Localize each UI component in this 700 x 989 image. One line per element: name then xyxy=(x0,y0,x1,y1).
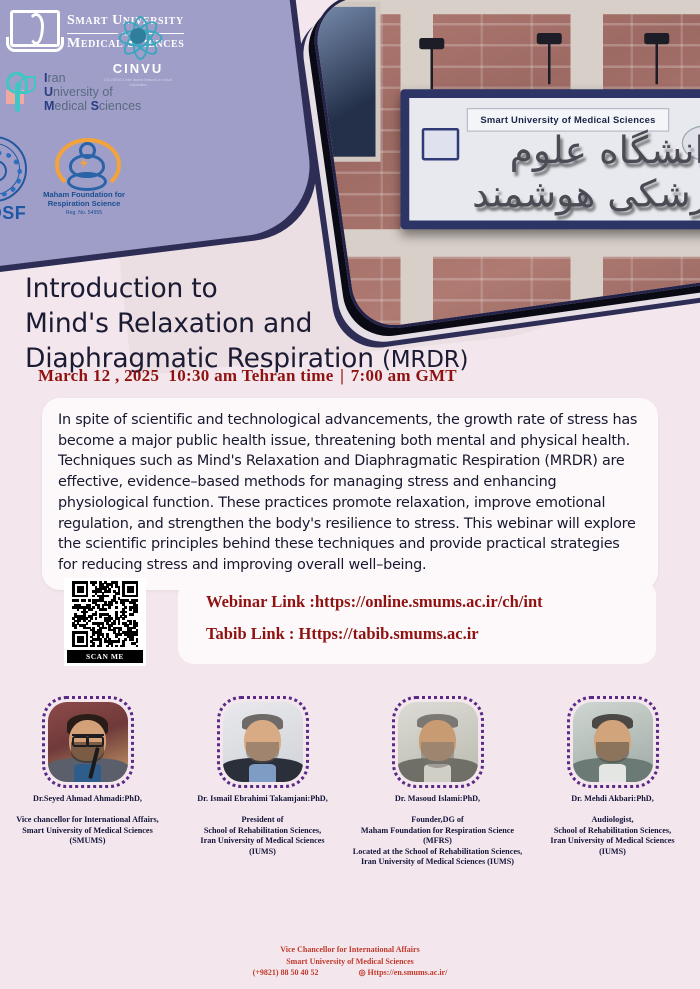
event-time-tehran: 10:30 am Tehran time xyxy=(168,366,333,385)
webinar-poster: Smart University of Medical Sciences دان… xyxy=(0,0,700,989)
sign-english-strip: Smart University of Medical Sciences xyxy=(467,108,670,132)
footer-phone: (+9821) 88 50 40 52 xyxy=(253,967,319,979)
tabib-link[interactable]: Tabib Link : Https://tabib.smums.ac.ir xyxy=(206,624,656,644)
footer-line-1: Vice Chancellor for International Affair… xyxy=(0,944,700,956)
speaker-card: Dr. Masoud Islami:PhD, Founder,DG ofMaha… xyxy=(350,696,525,868)
sign-lamp xyxy=(656,42,659,85)
speaker-role: President ofSchool of Rehabilitation Sci… xyxy=(175,815,350,857)
datetime-separator: | xyxy=(338,366,346,385)
window xyxy=(309,2,381,162)
logo-maham: Maham Foundation for Respiration Science… xyxy=(28,136,140,216)
speaker-card: Dr.Seyed Ahmad Ahmadi:PhD, Vice chancell… xyxy=(0,696,175,868)
logo-iums-l1b: ran xyxy=(47,71,65,85)
event-date: March 12 , 2025 xyxy=(38,366,159,385)
page-title: Introduction to Mind's Relaxation and Di… xyxy=(25,272,545,377)
sign-lamp xyxy=(548,42,551,85)
event-datetime: March 12 , 2025 10:30 am Tehran time | 7… xyxy=(38,366,457,386)
links-card: Webinar Link :https://online.smums.ac.ir… xyxy=(178,580,656,664)
iums-mark-icon xyxy=(4,70,38,114)
logo-cinvu-name: CINVU xyxy=(100,61,176,76)
footer-line-2: Smart University of Medical Sciences xyxy=(0,956,700,968)
logo-iums-l3a: M xyxy=(44,99,54,113)
title-line-2: Mind's Relaxation and xyxy=(25,307,545,342)
speaker-role: Audiologist,School of Rehabilitation Sci… xyxy=(525,815,700,857)
avatar xyxy=(217,696,309,788)
speaker-card: Dr. Ismail Ebrahimi Takamjani:PhD, Presi… xyxy=(175,696,350,868)
logo-iums-l3c: S xyxy=(91,99,99,113)
description-card: In spite of scientific and technological… xyxy=(42,398,658,590)
cinvu-star-icon xyxy=(114,12,162,60)
speakers-row: Dr.Seyed Ahmad Ahmadi:PhD, Vice chancell… xyxy=(0,696,700,868)
speaker-name: Dr. Masoud Islami:PhD, xyxy=(350,794,525,803)
sign-farsi-text: دانشگاه علوم پزشکی هوشمند xyxy=(434,136,700,211)
ecosf-seal-icon xyxy=(0,136,27,202)
title-line-1: Introduction to xyxy=(25,272,545,307)
university-sign: Smart University of Medical Sciences دان… xyxy=(401,89,700,229)
speaker-card: Dr. Mehdi Akbari:PhD, Audiologist,School… xyxy=(525,696,700,868)
speaker-name: Dr. Mehdi Akbari:PhD, xyxy=(525,794,700,803)
speaker-role: Founder,DG ofMaham Foundation for Respir… xyxy=(350,815,525,868)
logo-maham-reg: Reg. No. 54955 xyxy=(28,210,140,216)
footer-website[interactable]: Https://en.smums.ac.ir/ xyxy=(368,968,448,977)
avatar xyxy=(42,696,134,788)
qr-code-image[interactable] xyxy=(67,581,143,647)
speaker-name: Dr. Ismail Ebrahimi Takamjani:PhD, xyxy=(175,794,350,803)
logo-cinvu-subtitle: OIC-ISESCO Inter Islamic Network on Virt… xyxy=(100,78,176,87)
event-time-gmt: 7:00 am GMT xyxy=(351,366,457,385)
sign-lamp xyxy=(431,47,434,90)
logo-panel: Smart University of Medical Sciences Ira… xyxy=(0,0,318,271)
logo-cinvu: CINVU OIC-ISESCO Inter Islamic Network o… xyxy=(100,12,176,87)
speaker-name: Dr.Seyed Ahmad Ahmadi:PhD, xyxy=(0,794,175,803)
logo-iums-l3d: ciences xyxy=(99,99,141,113)
logo-iums-l2a: U xyxy=(44,85,53,99)
logo-iums-l3b: edical xyxy=(54,99,90,113)
avatar xyxy=(567,696,659,788)
book-caduceus-icon xyxy=(6,10,58,56)
avatar xyxy=(392,696,484,788)
facade-band xyxy=(309,229,700,257)
maham-meditation-icon xyxy=(55,136,113,190)
webinar-link[interactable]: Webinar Link :https://online.smums.ac.ir… xyxy=(206,592,656,612)
qr-code[interactable]: SCAN ME xyxy=(64,578,146,666)
logo-maham-name: Maham Foundation for Respiration Science xyxy=(28,191,140,209)
sign-english-text: Smart University of Medical Sciences xyxy=(480,114,655,125)
footer: Vice Chancellor for International Affair… xyxy=(0,944,700,979)
description-text: In spite of scientific and technological… xyxy=(58,410,642,576)
qr-scan-label: SCAN ME xyxy=(67,650,143,663)
globe-icon: ◎ xyxy=(359,968,366,977)
speaker-role: Vice chancellor for International Affair… xyxy=(0,815,175,847)
